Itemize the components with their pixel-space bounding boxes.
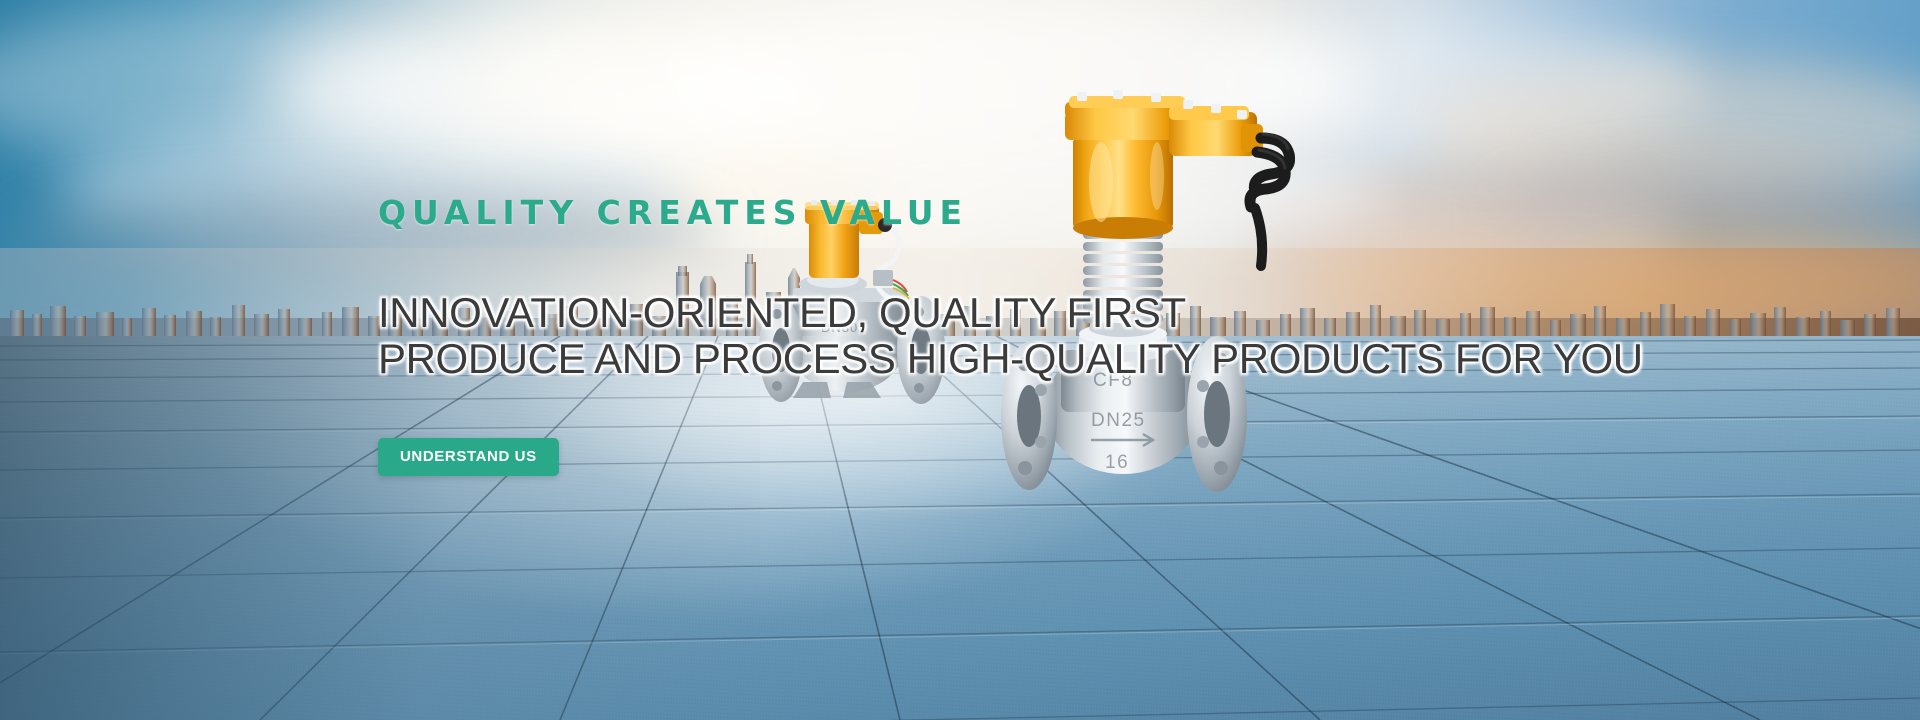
hero-eyebrow: QUALITY CREATES VALUE — [378, 196, 1558, 229]
cloud-shape — [280, 30, 820, 150]
cloud-shape — [1420, 60, 1920, 200]
hero-headline-line2: PRODUCE AND PROCESS HIGH-QUALITY PRODUCT… — [378, 336, 1558, 382]
understand-us-button[interactable]: UNDERSTAND US — [378, 438, 559, 476]
hero-content: QUALITY CREATES VALUE INNOVATION-ORIENTE… — [378, 196, 1558, 476]
cloud-shape — [0, 10, 460, 160]
hero-headline-line1: INNOVATION-ORIENTED, QUALITY FIRST — [378, 290, 1558, 336]
hero-banner: DN80 CF8 — [0, 0, 1920, 720]
